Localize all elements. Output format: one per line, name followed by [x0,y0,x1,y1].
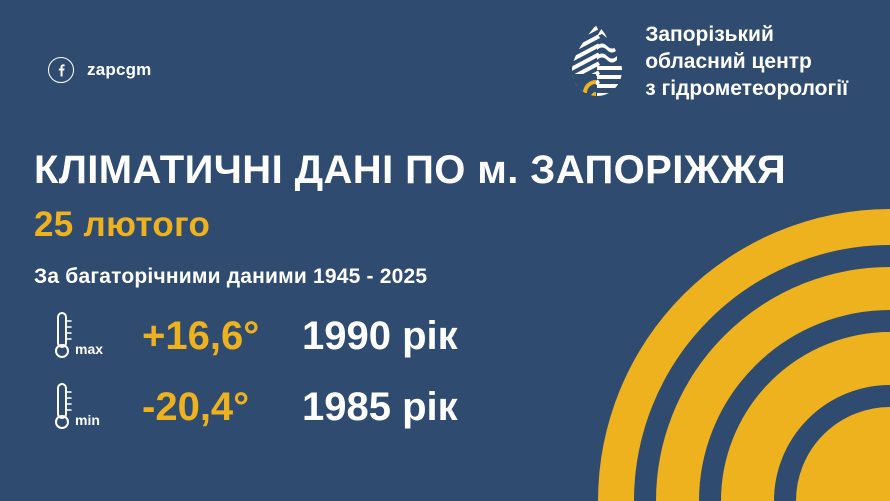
decorative-arcs [550,161,890,501]
thermometer-icon: max [50,312,142,360]
record-year-min: 1985 рік [302,385,458,430]
record-row-max: max +16,6° 1990 рік [50,312,458,360]
organization-line-3: з гідрометеорології [645,76,848,103]
record-row-min: min -20,4° 1985 рік [50,383,458,431]
date-label: 25 лютого [34,205,210,245]
water-droplet-icon [566,22,628,102]
record-label-max: max [75,341,103,357]
facebook-icon [48,57,74,83]
record-label-min: min [75,412,100,428]
climate-poster: zapcgm [0,0,890,501]
thermometer-icon: min [50,383,142,431]
record-value-min: -20,4° [142,385,302,430]
organization-line-2: обласний центр [645,49,848,76]
period-label: За багаторічними даними 1945 - 2025 [34,265,427,289]
organization-logo: Запорізький обласний центр з гідрометеор… [566,22,848,103]
page-title: КЛІМАТИЧНІ ДАНІ ПО м. ЗАПОРІЖЖЯ [34,148,786,193]
record-year-max: 1990 рік [302,314,458,359]
social-handle-text: zapcgm [87,60,152,80]
organization-line-1: Запорізький [645,22,848,49]
organization-name: Запорізький обласний центр з гідрометеор… [645,22,848,103]
record-value-max: +16,6° [142,314,302,359]
social-handle[interactable]: zapcgm [48,57,152,83]
